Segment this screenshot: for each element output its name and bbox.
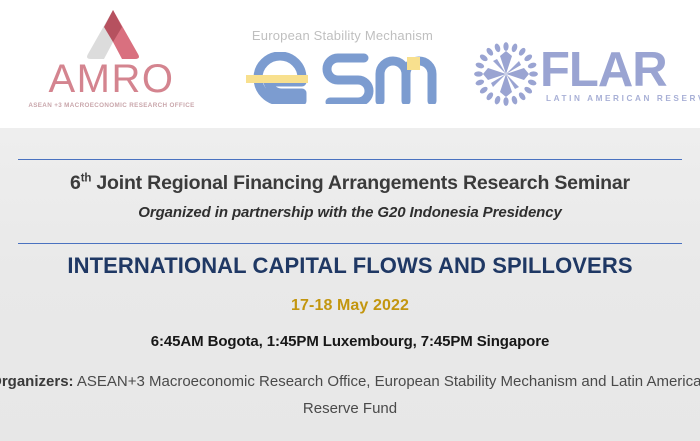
esm-full-name: European Stability Mechanism bbox=[240, 28, 445, 43]
divider-middle bbox=[18, 243, 682, 244]
theme-title: INTERNATIONAL CAPITAL FLOWS AND SPILLOVE… bbox=[0, 253, 700, 279]
flar-logo: FLAR LATIN AMERICAN RESERVE FUND bbox=[474, 40, 700, 110]
amro-wordmark: AMRO bbox=[24, 58, 199, 100]
seminar-ordinal: 6 bbox=[70, 172, 81, 194]
flar-star-wreath-icon bbox=[474, 42, 538, 106]
amro-chevron-icon bbox=[74, 8, 152, 60]
event-times: 6:45AM Bogota, 1:45PM Luxembourg, 7:45PM… bbox=[0, 333, 700, 350]
slide-body: 6th Joint Regional Financing Arrangement… bbox=[0, 128, 700, 441]
divider-top bbox=[18, 159, 682, 160]
seminar-title: 6th Joint Regional Financing Arrangement… bbox=[0, 172, 700, 195]
flar-tagline: LATIN AMERICAN RESERVE FUND bbox=[546, 94, 700, 103]
event-date: 17-18 May 2022 bbox=[0, 297, 700, 315]
flar-wordmark: FLAR bbox=[540, 46, 667, 95]
amro-logo: AMRO ASEAN +3 MACROECONOMIC RESEARCH OFF… bbox=[24, 8, 199, 120]
seminar-title-text: Joint Regional Financing Arrangements Re… bbox=[91, 172, 630, 194]
logo-header-band: AMRO ASEAN +3 MACROECONOMIC RESEARCH OFF… bbox=[0, 0, 700, 128]
seminar-subtitle: Organized in partnership with the G20 In… bbox=[0, 204, 700, 221]
organizers-value: ASEAN+3 Macroeconomic Research Office, E… bbox=[74, 373, 700, 417]
organizers-line: Organizers: ASEAN+3 Macroeconomic Resear… bbox=[0, 368, 700, 422]
presentation-slide: AMRO ASEAN +3 MACROECONOMIC RESEARCH OFF… bbox=[0, 0, 700, 441]
seminar-ordinal-suffix: th bbox=[81, 173, 91, 185]
esm-wordmark-icon bbox=[246, 52, 442, 104]
organizers-label: Organizers: bbox=[0, 373, 74, 390]
amro-tagline: ASEAN +3 MACROECONOMIC RESEARCH OFFICE bbox=[24, 102, 199, 109]
esm-logo: European Stability Mechanism bbox=[240, 28, 445, 108]
